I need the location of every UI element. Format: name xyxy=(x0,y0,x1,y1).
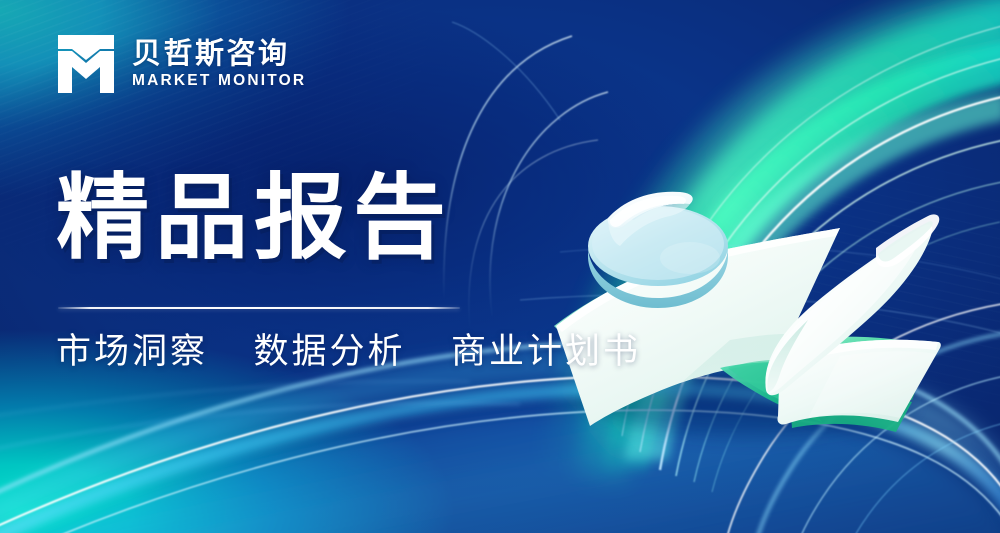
subtitle-item-2: 商业计划书 xyxy=(451,328,641,375)
report-banner: 贝哲斯咨询 MARKET MONITOR 精品报告 市场洞察 数据分析 商业计划… xyxy=(0,0,1000,533)
brand-name-cn: 贝哲斯咨询 xyxy=(132,39,306,69)
subtitle-list: 市场洞察 数据分析 商业计划书 xyxy=(56,328,641,375)
brand-text: 贝哲斯咨询 MARKET MONITOR xyxy=(132,39,306,88)
title-divider xyxy=(58,307,460,309)
brand-logo[interactable]: 贝哲斯咨询 MARKET MONITOR xyxy=(56,33,306,95)
subtitle-item-1: 数据分析 xyxy=(253,328,405,375)
brand-name-en: MARKET MONITOR xyxy=(132,72,306,89)
open-book-illustration xyxy=(540,150,960,440)
subtitle-item-0: 市场洞察 xyxy=(56,328,208,375)
page-title: 精品报告 xyxy=(56,168,452,268)
market-monitor-m-mark-icon xyxy=(56,33,116,95)
